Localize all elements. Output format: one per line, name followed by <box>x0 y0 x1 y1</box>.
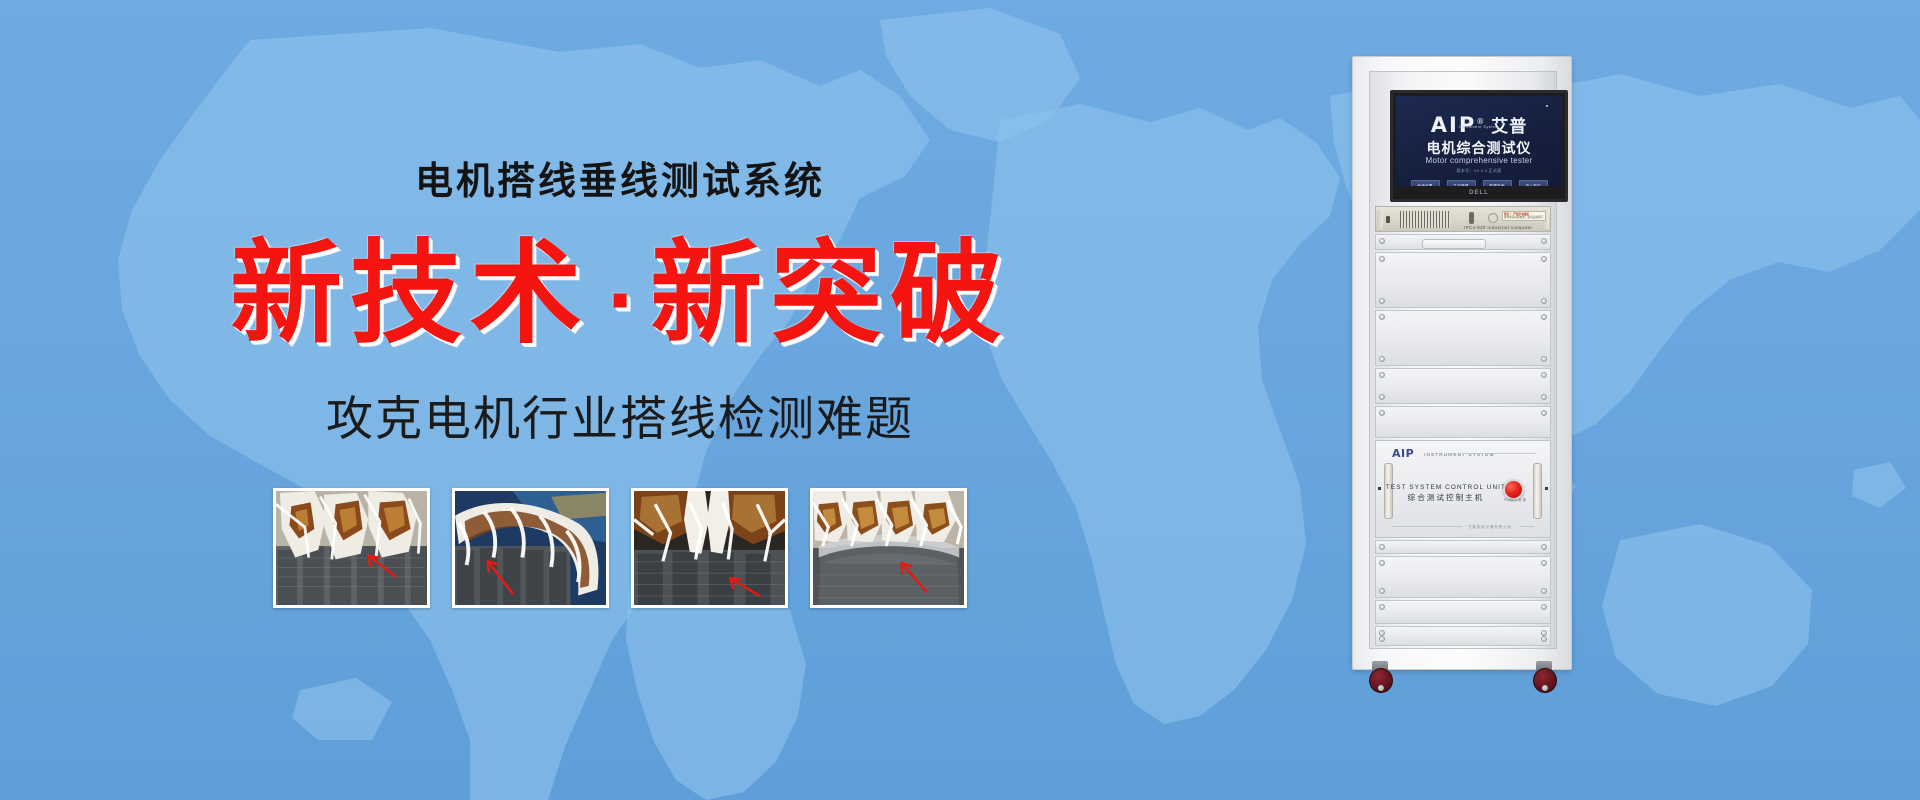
main-headline: 新技术·新突破 <box>0 232 1240 363</box>
cabinet-frame: AIP®艾普 Instrument System 电机综合测试仪 Motor c… <box>1352 56 1572 670</box>
screw-icon <box>1379 560 1385 566</box>
rack-blank-panel <box>1375 406 1551 438</box>
rack-blank-panel <box>1375 626 1551 646</box>
thumbnail-4[interactable] <box>810 488 967 608</box>
control-unit-logo: AIP <box>1392 448 1414 460</box>
screw-icon <box>1541 356 1547 362</box>
rack-drawer-panel[interactable] <box>1375 234 1551 250</box>
screw-icon <box>1541 588 1547 594</box>
screw-icon <box>1379 372 1385 378</box>
headline-block: 电机搭线垂线测试系统 新技术·新突破 攻克电机行业搭线检测难题 <box>0 0 1240 800</box>
screen-button-start-test[interactable]: 进入测试 <box>1519 180 1548 186</box>
instrument-cabinet: AIP®艾普 Instrument System 电机综合测试仪 Motor c… <box>1352 56 1600 696</box>
control-unit-footer: 艾普智能仪器有限公司 <box>1468 524 1512 530</box>
screen-button-production[interactable]: 生产管理 <box>1447 180 1476 186</box>
screw-icon <box>1541 372 1547 378</box>
brand-tagline: Instrument System <box>1396 124 1562 129</box>
caster-wheel <box>1533 668 1557 693</box>
screw-icon <box>1379 410 1385 416</box>
divider <box>1520 526 1534 527</box>
caster-hub <box>1542 685 1548 691</box>
thumbnail-3[interactable] <box>631 488 788 608</box>
screw-icon <box>1541 604 1547 610</box>
screw-icon <box>1541 560 1547 566</box>
warning-label-text: 操作前请切断电源，避免设备损坏 <box>1504 216 1544 219</box>
screw-icon <box>1541 256 1547 262</box>
screen-indicator-dot <box>1546 105 1548 107</box>
thumbnail-2[interactable] <box>452 488 609 608</box>
screw-icon <box>1541 298 1547 304</box>
stator-photo-1 <box>276 491 427 605</box>
eyebrow-title: 电机搭线垂线测试系统 <box>0 160 1240 202</box>
screw-icon <box>1541 314 1547 320</box>
drawer-handle[interactable] <box>1422 239 1486 249</box>
screen-button-settings[interactable]: 系统设置 <box>1411 180 1440 186</box>
ipc-model-label: IPC4-820 Industrial computer <box>1464 225 1550 231</box>
screw-icon <box>1379 314 1385 320</box>
thumbnail-strip <box>0 488 1240 608</box>
screw-icon <box>1379 394 1385 400</box>
screw-icon <box>1379 256 1385 262</box>
screw-icon <box>1541 394 1547 400</box>
monitor: AIP®艾普 Instrument System 电机综合测试仪 Motor c… <box>1390 90 1568 202</box>
caster-hub <box>1378 685 1384 691</box>
screw-icon <box>1379 238 1385 244</box>
control-unit-panel: AIP INSTRUMENT SYSTEM TEST SYSTEM CONTRO… <box>1375 440 1551 538</box>
screw-icon <box>1541 544 1547 550</box>
promo-banner: 电机搭线垂线测试系统 新技术·新突破 攻克电机行业搭线检测难题 <box>0 0 1920 800</box>
rack-blank-panel <box>1375 540 1551 554</box>
rack-blank-panel <box>1375 600 1551 624</box>
caster-wheel <box>1369 668 1393 693</box>
caster-wheel-left <box>1369 661 1391 691</box>
rack-blank-panel <box>1375 556 1551 598</box>
caster-wheel-right <box>1533 661 1555 691</box>
headline-right: 新突破 <box>650 229 1010 359</box>
vent-grille-icon <box>1400 211 1450 228</box>
screw-icon <box>1379 636 1385 642</box>
screw-icon <box>1379 604 1385 610</box>
power-button[interactable] <box>1503 479 1524 500</box>
headline-separator-dot: · <box>590 258 650 344</box>
power-button-label: POWER 电 源 <box>1500 498 1530 502</box>
rack-blank-panel <box>1375 368 1551 404</box>
screw-icon <box>1379 588 1385 594</box>
rack-ear-left <box>1377 210 1383 229</box>
screw-icon <box>1379 356 1385 362</box>
headline-left: 新技术 <box>230 229 590 359</box>
screen-button-query[interactable]: 数据查询 <box>1483 180 1512 186</box>
monitor-screen[interactable]: AIP®艾普 Instrument System 电机综合测试仪 Motor c… <box>1396 96 1562 186</box>
status-led <box>1378 487 1381 490</box>
screen-title-cn: 电机综合测试仪 <box>1396 140 1562 156</box>
status-led <box>1545 487 1548 490</box>
power-knob[interactable] <box>1488 213 1498 223</box>
thumbnail-1[interactable] <box>273 488 430 608</box>
screw-icon <box>1379 298 1385 304</box>
screw-icon <box>1379 544 1385 550</box>
monitor-brand-label: DELL <box>1393 189 1565 198</box>
rack-blank-panel <box>1375 310 1551 366</box>
screw-icon <box>1541 238 1547 244</box>
usb-slot[interactable] <box>1469 212 1474 224</box>
warning-label: 警告 ！ 严禁带电插拔 操作前请切断电源，避免设备损坏 <box>1502 211 1546 221</box>
screw-icon <box>1541 410 1547 416</box>
divider <box>1392 526 1462 527</box>
stator-photo-2 <box>455 491 606 605</box>
power-led <box>1386 216 1390 223</box>
sub-headline: 攻克电机行业搭线检测难题 <box>0 392 1240 448</box>
screw-icon <box>1541 636 1547 642</box>
stator-photo-4 <box>813 491 964 605</box>
screen-version: 版本号：V2.0.3 正式版 <box>1396 168 1562 174</box>
industrial-computer-panel: 警告 ！ 严禁带电插拔 操作前请切断电源，避免设备损坏 IPC4-820 Ind… <box>1375 206 1551 232</box>
stator-photo-3 <box>634 491 785 605</box>
cabinet-rack: AIP®艾普 Instrument System 电机综合测试仪 Motor c… <box>1369 71 1557 649</box>
rack-blank-panel <box>1375 252 1551 308</box>
screen-button-row: 系统设置 生产管理 数据查询 进入测试 <box>1396 180 1562 186</box>
screen-title-en: Motor comprehensive tester <box>1396 156 1562 166</box>
divider <box>1462 453 1536 454</box>
